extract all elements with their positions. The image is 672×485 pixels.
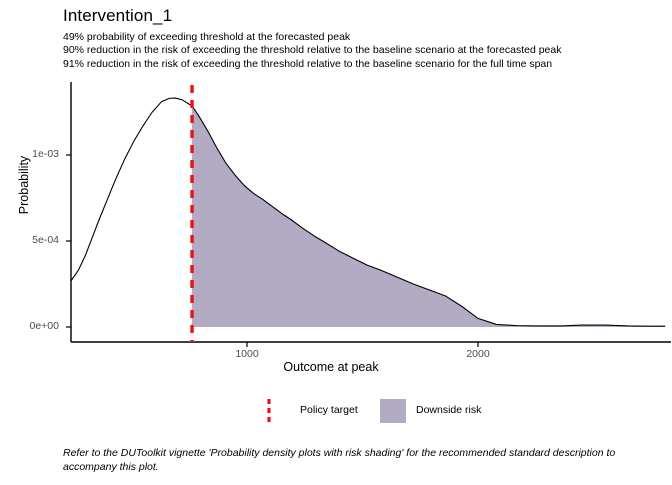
y-tick-label-0: 0e+00 [0,320,59,332]
downside-risk-legend-label: Downside risk [416,404,481,416]
policy-target-legend-label: Policy target [300,404,358,416]
y-tick-label-1: 5e-04 [0,234,59,246]
y-axis-title: Probability [17,125,31,245]
x-tick-label-1: 2000 [443,348,513,360]
downside-risk-legend-swatch [380,399,406,423]
x-tick-label-0: 1000 [212,348,282,360]
y-tick-label-2: 1e-03 [0,148,59,160]
x-axis-title: Outcome at peak [231,360,431,374]
plot-root: Intervention_1 49% probability of exceed… [0,0,672,480]
policy-target-legend-key [262,398,282,424]
plot-caption: Refer to the DUToolkit vignette 'Probabi… [63,446,663,474]
downside-risk-shaded-area [192,106,665,327]
